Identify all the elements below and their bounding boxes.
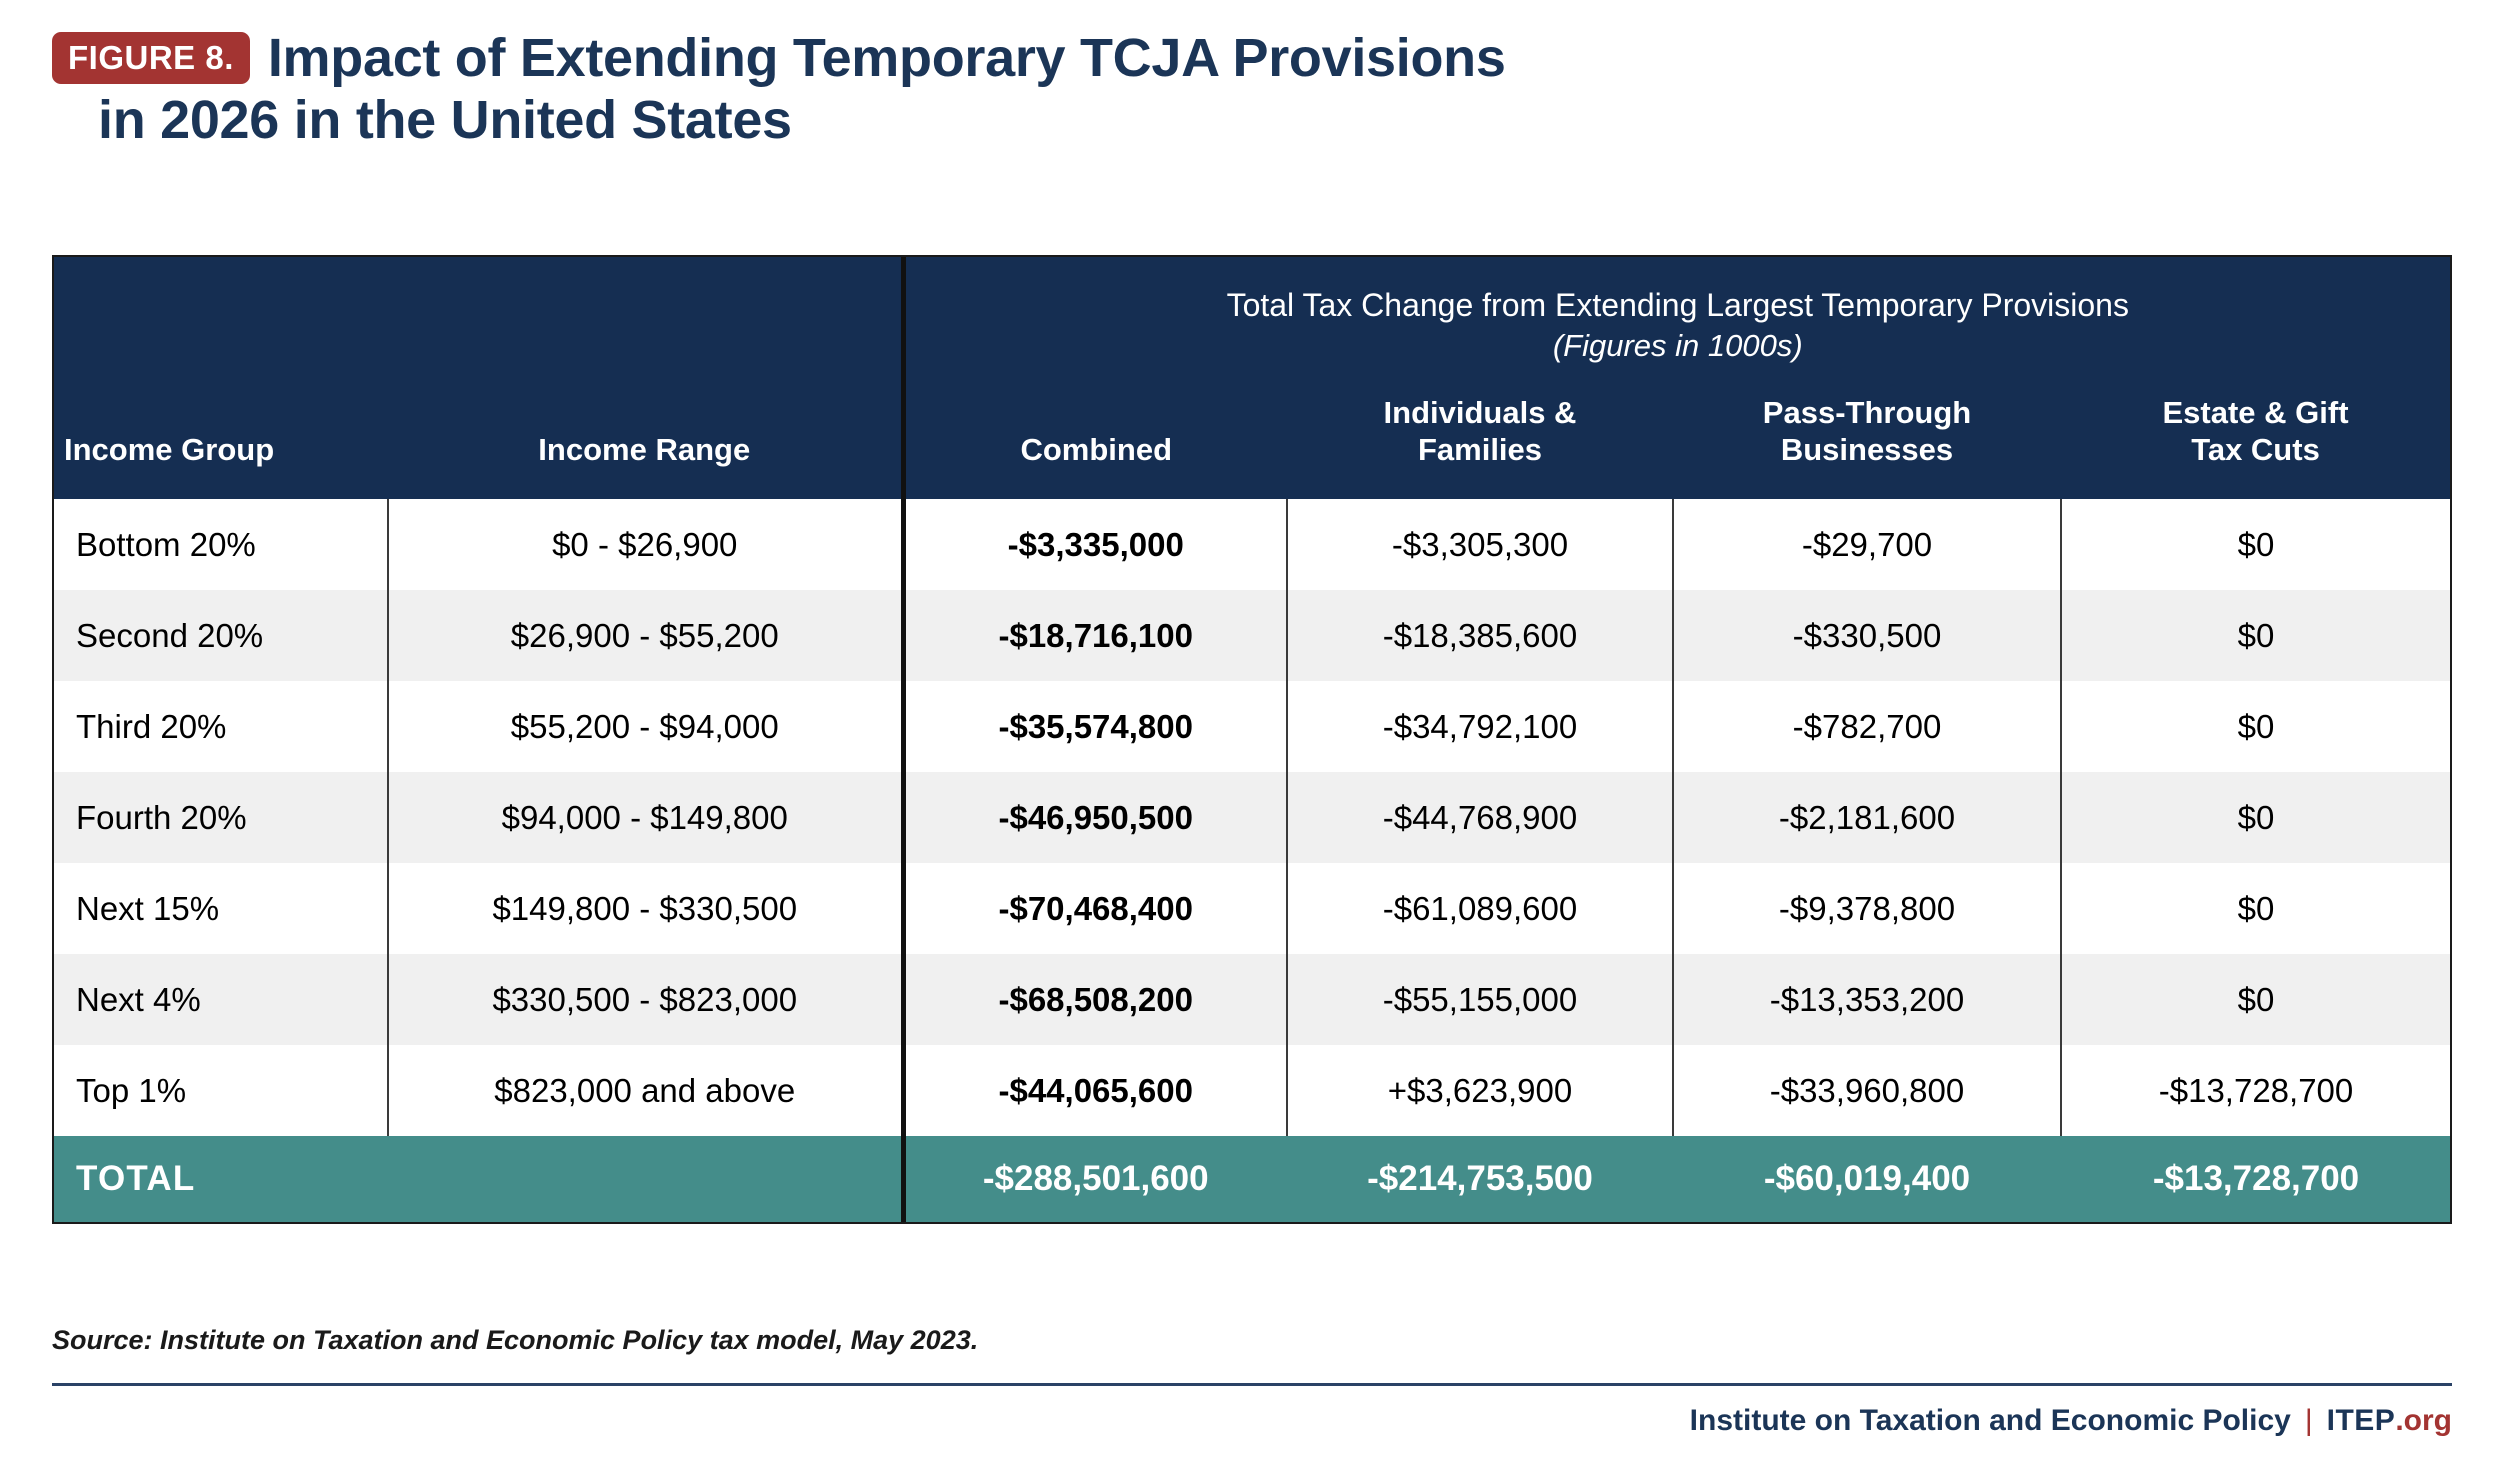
cell-combined: -$18,716,100 <box>903 590 1287 681</box>
cell-total-estate-gift: -$13,728,700 <box>2061 1136 2450 1222</box>
cell-combined: -$68,508,200 <box>903 954 1287 1045</box>
column-header-passthrough-line1: Pass-Through <box>1763 395 1971 430</box>
table-row: Third 20% $55,200 - $94,000 -$35,574,800… <box>54 681 2450 772</box>
cell-total-individuals-families: -$214,753,500 <box>1287 1136 1673 1222</box>
cell-pass-through: -$33,960,800 <box>1673 1045 2061 1136</box>
table-row: Fourth 20% $94,000 - $149,800 -$46,950,5… <box>54 772 2450 863</box>
cell-combined: -$46,950,500 <box>903 772 1287 863</box>
figure-title-block: FIGURE 8. Impact of Extending Temporary … <box>52 28 2452 151</box>
cell-income-group: Top 1% <box>54 1045 388 1136</box>
table-spanner-row: Total Tax Change from Extending Largest … <box>54 257 2450 376</box>
cell-pass-through: -$782,700 <box>1673 681 2061 772</box>
column-header-estate-line2: Tax Cuts <box>2191 432 2320 467</box>
cell-income-group: Next 15% <box>54 863 388 954</box>
cell-individuals-families: -$44,768,900 <box>1287 772 1673 863</box>
cell-total-range <box>388 1136 903 1222</box>
cell-estate-gift: $0 <box>2061 590 2450 681</box>
column-header-pass-through: Pass-Through Businesses <box>1673 376 2061 500</box>
data-table-container: Total Tax Change from Extending Largest … <box>52 255 2452 1224</box>
cell-pass-through: -$29,700 <box>1673 499 2061 590</box>
cell-income-group: Next 4% <box>54 954 388 1045</box>
column-header-estate-gift: Estate & Gift Tax Cuts <box>2061 376 2450 500</box>
cell-estate-gift: $0 <box>2061 681 2450 772</box>
cell-income-group: Second 20% <box>54 590 388 681</box>
spanner-subtitle: (Figures in 1000s) <box>916 326 2441 366</box>
cell-income-range: $26,900 - $55,200 <box>388 590 903 681</box>
column-header-estate-line1: Estate & Gift <box>2162 395 2348 430</box>
cell-income-range: $94,000 - $149,800 <box>388 772 903 863</box>
table-row: Top 1% $823,000 and above -$44,065,600 +… <box>54 1045 2450 1136</box>
brand-separator: | <box>2305 1404 2313 1438</box>
cell-income-group: Fourth 20% <box>54 772 388 863</box>
page-title: Impact of Extending Temporary TCJA Provi… <box>268 28 1506 88</box>
tcja-impact-table: Total Tax Change from Extending Largest … <box>54 257 2450 1222</box>
table-row: Next 15% $149,800 - $330,500 -$70,468,40… <box>54 863 2450 954</box>
cell-estate-gift: $0 <box>2061 863 2450 954</box>
column-header-individuals-families: Individuals & Families <box>1287 376 1673 500</box>
column-header-income-range: Income Range <box>388 376 903 500</box>
column-header-passthrough-line2: Businesses <box>1781 432 1953 467</box>
table-row: Second 20% $26,900 - $55,200 -$18,716,10… <box>54 590 2450 681</box>
cell-pass-through: -$330,500 <box>1673 590 2061 681</box>
cell-combined: -$35,574,800 <box>903 681 1287 772</box>
cell-combined: -$70,468,400 <box>903 863 1287 954</box>
cell-pass-through: -$13,353,200 <box>1673 954 2061 1045</box>
cell-income-range: $149,800 - $330,500 <box>388 863 903 954</box>
cell-individuals-families: -$55,155,000 <box>1287 954 1673 1045</box>
cell-combined: -$44,065,600 <box>903 1045 1287 1136</box>
brand-organization-name: Institute on Taxation and Economic Polic… <box>1690 1404 2291 1438</box>
cell-income-group: Third 20% <box>54 681 388 772</box>
cell-income-range: $823,000 and above <box>388 1045 903 1136</box>
brand-website-link[interactable]: ITEP.org <box>2327 1404 2452 1438</box>
cell-income-range: $0 - $26,900 <box>388 499 903 590</box>
table-row: Next 4% $330,500 - $823,000 -$68,508,200… <box>54 954 2450 1045</box>
page-title-second-line: in 2026 in the United States <box>52 90 2452 150</box>
title-line-one: FIGURE 8. Impact of Extending Temporary … <box>52 28 2452 88</box>
spanner-empty-cell <box>54 257 903 376</box>
cell-individuals-families: -$34,792,100 <box>1287 681 1673 772</box>
cell-individuals-families: -$3,305,300 <box>1287 499 1673 590</box>
cell-estate-gift: $0 <box>2061 954 2450 1045</box>
column-header-combined: Combined <box>903 376 1287 500</box>
cell-pass-through: -$9,378,800 <box>1673 863 2061 954</box>
table-head: Total Tax Change from Extending Largest … <box>54 257 2450 499</box>
cell-pass-through: -$2,181,600 <box>1673 772 2061 863</box>
column-header-individuals-line2: Families <box>1418 432 1542 467</box>
cell-income-range: $330,500 - $823,000 <box>388 954 903 1045</box>
brand-org-suffix: .org <box>2395 1404 2452 1437</box>
cell-total-pass-through: -$60,019,400 <box>1673 1136 2061 1222</box>
cell-income-range: $55,200 - $94,000 <box>388 681 903 772</box>
footer-divider <box>52 1383 2452 1386</box>
figure-number-badge: FIGURE 8. <box>52 32 250 84</box>
cell-estate-gift: $0 <box>2061 772 2450 863</box>
cell-total-label: TOTAL <box>54 1136 388 1222</box>
column-header-income-group: Income Group <box>54 376 388 500</box>
column-header-individuals-line1: Individuals & <box>1384 395 1577 430</box>
cell-estate-gift: -$13,728,700 <box>2061 1045 2450 1136</box>
table-total-row: TOTAL -$288,501,600 -$214,753,500 -$60,0… <box>54 1136 2450 1222</box>
cell-individuals-families: -$18,385,600 <box>1287 590 1673 681</box>
table-column-header-row: Income Group Income Range Combined Indiv… <box>54 376 2450 500</box>
cell-individuals-families: +$3,623,900 <box>1287 1045 1673 1136</box>
table-row: Bottom 20% $0 - $26,900 -$3,335,000 -$3,… <box>54 499 2450 590</box>
cell-combined: -$3,335,000 <box>903 499 1287 590</box>
footer-brand: Institute on Taxation and Economic Polic… <box>1690 1404 2452 1438</box>
cell-estate-gift: $0 <box>2061 499 2450 590</box>
cell-individuals-families: -$61,089,600 <box>1287 863 1673 954</box>
source-note: Source: Institute on Taxation and Econom… <box>52 1325 978 1356</box>
table-body: Bottom 20% $0 - $26,900 -$3,335,000 -$3,… <box>54 499 2450 1222</box>
spanner-header-cell: Total Tax Change from Extending Largest … <box>903 257 2450 376</box>
cell-total-combined: -$288,501,600 <box>903 1136 1287 1222</box>
spanner-title: Total Tax Change from Extending Largest … <box>916 285 2441 326</box>
cell-income-group: Bottom 20% <box>54 499 388 590</box>
brand-itep-text: ITEP <box>2327 1404 2396 1437</box>
